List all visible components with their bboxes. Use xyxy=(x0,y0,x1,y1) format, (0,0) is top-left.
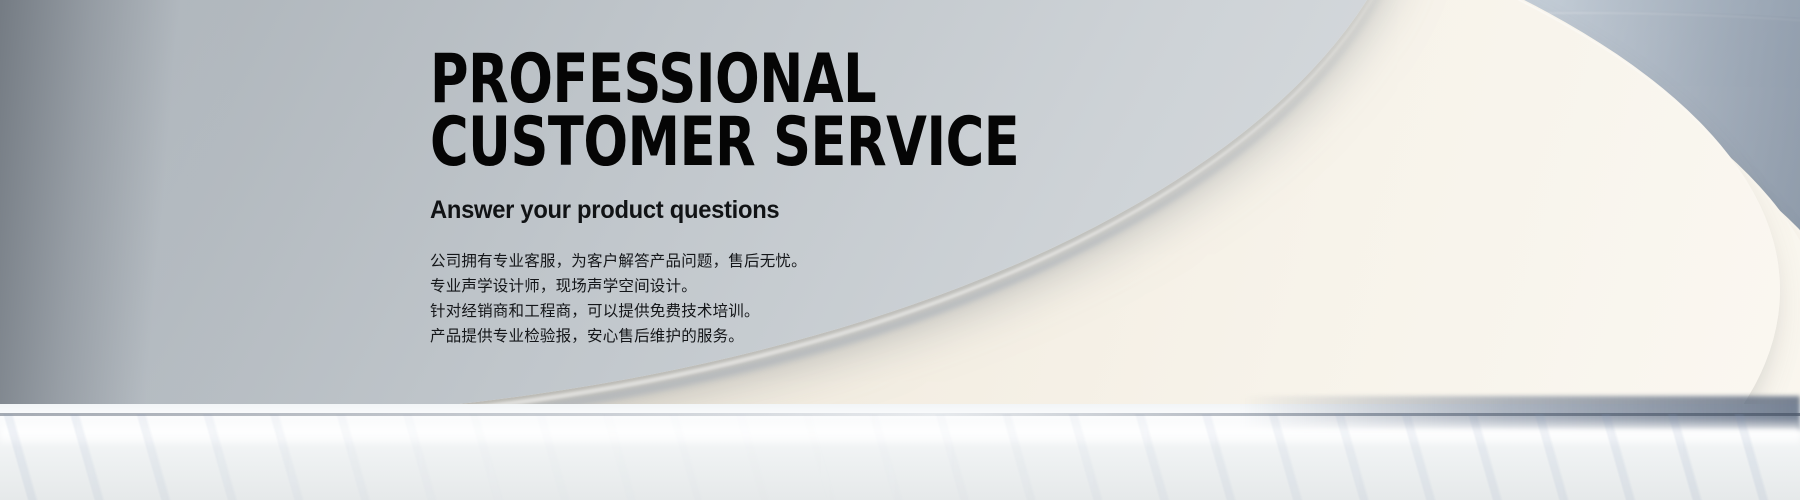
body-copy: 公司拥有专业客服，为客户解答产品问题，售后无忧。 专业声学设计师，现场声学空间设… xyxy=(430,249,1430,349)
floor-reflection-streaks xyxy=(0,414,1800,500)
hero-banner: PROFESSIONAL CUSTOMER SERVICE Answer you… xyxy=(0,0,1800,500)
body-line-2: 专业声学设计师，现场声学空间设计。 xyxy=(430,274,1430,299)
headline-line-2: CUSTOMER SERVICE xyxy=(430,111,1290,174)
body-line-4: 产品提供专业检验报，安心售后维护的服务。 xyxy=(430,324,1430,349)
body-line-1: 公司拥有专业客服，为客户解答产品问题，售后无忧。 xyxy=(430,249,1430,274)
banner-text-block: PROFESSIONAL CUSTOMER SERVICE Answer you… xyxy=(430,48,1430,349)
body-line-3: 针对经销商和工程商，可以提供免费技术培训。 xyxy=(430,299,1430,324)
headline: PROFESSIONAL CUSTOMER SERVICE xyxy=(430,48,1290,174)
subheadline: Answer your product questions xyxy=(430,196,1380,225)
